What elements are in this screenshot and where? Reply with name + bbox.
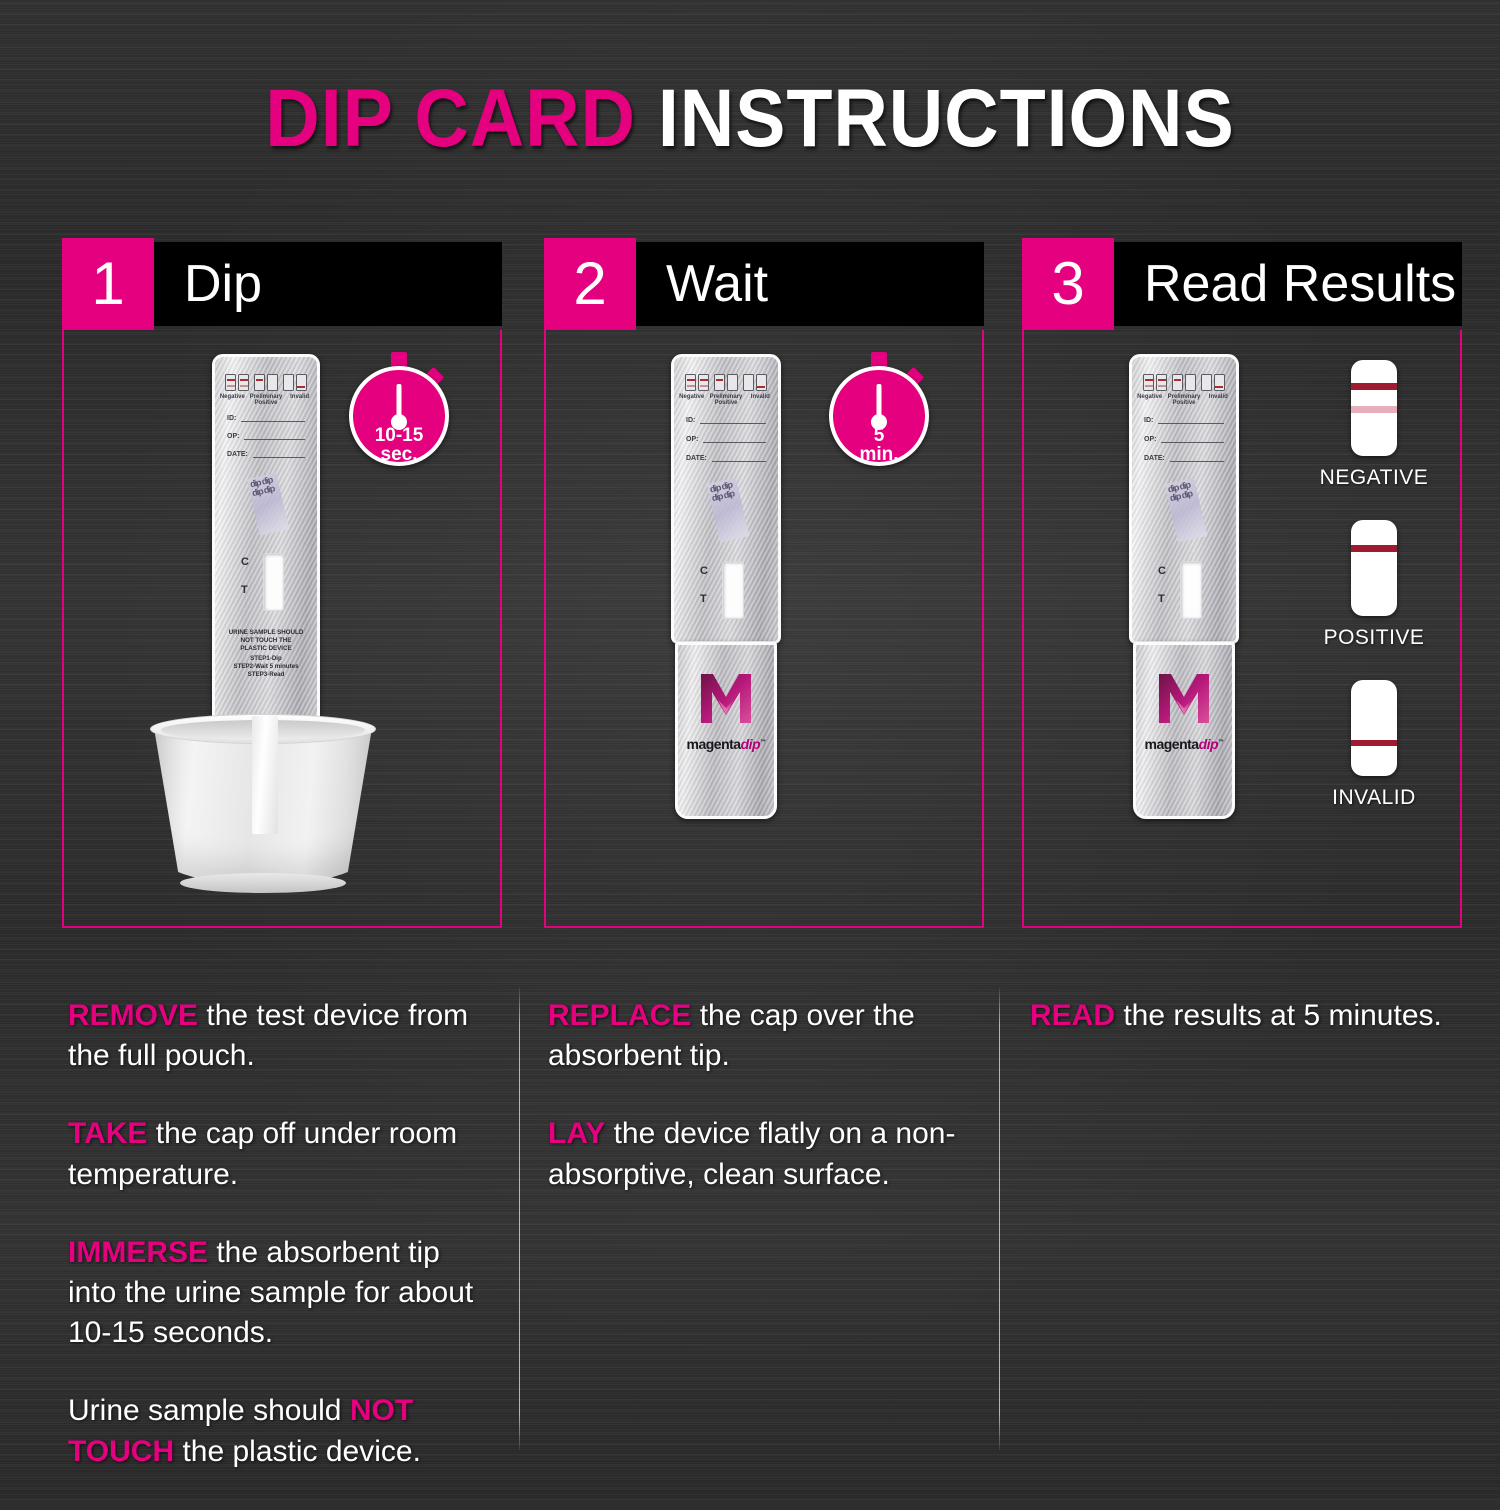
page-title: DIP CARD INSTRUCTIONS (60, 78, 1440, 160)
device-field-op: OP: (1144, 436, 1224, 443)
device-fields: ID: OP: DATE: (674, 417, 778, 462)
device-result-icon-labels: Negative Preliminary Positive Invalid (674, 394, 778, 407)
text-column-divider-1 (519, 988, 520, 1450)
brand-m-icon (1153, 667, 1215, 729)
step-panel-2: 2 Wait (544, 238, 984, 928)
icon-pair-invalid (283, 374, 307, 391)
icon-pair-negative (685, 374, 709, 391)
device-fields: ID: OP: DATE: (215, 415, 317, 458)
icon-label-negative: Negative (1133, 394, 1167, 407)
device-result-icon-labels: Negative Preliminary Positive Invalid (1132, 394, 1236, 407)
stopwatch-duration-step2: 5 min. (833, 426, 925, 465)
device-result-icons (674, 374, 778, 391)
device-result-window (1180, 561, 1202, 619)
step-2-number: 2 (544, 238, 636, 330)
step-1-number: 1 (62, 238, 154, 330)
legend-window-negative (1351, 360, 1397, 456)
instructions-column-2: REPLACE the cap over the absorbent tip. … (548, 996, 960, 1233)
instruction-paragraph: LAY the device flatly on a non-absorptiv… (548, 1114, 960, 1194)
device-hologram: dip dip dip dip (1165, 477, 1208, 542)
device-field-id: ID: (686, 417, 766, 424)
legend-window-invalid (1351, 680, 1397, 776)
band-test-line (1351, 406, 1397, 413)
brand-wordmark: magentadip™ (1136, 736, 1232, 752)
device-field-id: ID: (1144, 417, 1224, 424)
step-2-label: Wait (636, 242, 984, 326)
instruction-paragraph: TAKE the cap off under room temperature. (68, 1114, 480, 1194)
stopwatch-duration-step1: 10-15 sec. (353, 426, 445, 465)
device-result-icons (1132, 374, 1236, 391)
icon-pair-preliminary-positive (254, 374, 278, 391)
step-2-header: 2 Wait (544, 238, 984, 330)
device-cap-lower: magentadip™ (1133, 642, 1235, 819)
test-device-step3: Negative Preliminary Positive Invalid ID… (1129, 354, 1239, 819)
icon-label-preliminary-positive: Preliminary Positive (1167, 394, 1201, 407)
icon-pair-preliminary-positive (1172, 374, 1196, 391)
device-field-op: OP: (686, 436, 766, 443)
device-field-op: OP: (227, 433, 305, 440)
device-field-date: DATE: (227, 451, 305, 458)
brand-logo: magentadip™ (678, 667, 774, 752)
brand-logo: magentadip™ (1136, 667, 1232, 752)
instruction-paragraph: IMMERSE the absorbent tip into the urine… (68, 1233, 480, 1354)
device-ct-marks: C T (700, 566, 708, 605)
device-cap-lower: magentadip™ (675, 642, 777, 819)
device-hologram: dip dip dip dip (247, 472, 289, 535)
band-test-line (1351, 740, 1397, 747)
legend-label-positive: POSITIVE (1294, 626, 1454, 650)
device-body-upper: Negative Preliminary Positive Invalid ID… (1129, 354, 1239, 644)
band-control-line (1351, 545, 1397, 552)
legend-label-negative: NEGATIVE (1294, 466, 1454, 490)
device-result-window (722, 561, 744, 619)
device-warning-note: URINE SAMPLE SHOULD NOT TOUCH THE PLASTI… (215, 629, 317, 679)
icon-pair-preliminary-positive (714, 374, 738, 391)
page-title-accent: DIP CARD (265, 73, 636, 164)
device-ct-marks: C T (1158, 566, 1166, 605)
step-3-body: Negative Preliminary Positive Invalid ID… (1022, 330, 1462, 928)
instruction-paragraph: REMOVE the test device from the full pou… (68, 996, 480, 1076)
device-body-top: Negative Preliminary Positive Invalid ID… (212, 354, 320, 724)
icon-label-invalid: Invalid (743, 394, 777, 407)
brand-wordmark: magentadip™ (678, 736, 774, 752)
stopwatch-face: 10-15 sec. (349, 366, 449, 466)
test-device-step2: Negative Preliminary Positive Invalid ID… (671, 354, 781, 819)
device-result-icon-labels: Negative Preliminary Positive Invalid (215, 394, 317, 407)
instructions-column-1: REMOVE the test device from the full pou… (68, 996, 480, 1510)
icon-label-invalid: Invalid (1201, 394, 1235, 407)
instruction-paragraph: READ the results at 5 minutes. (1030, 996, 1450, 1036)
instruction-paragraph: Urine sample should NOT TOUCH the plasti… (68, 1391, 480, 1471)
icon-label-preliminary-positive: Preliminary Positive (709, 394, 743, 407)
icon-label-negative: Negative (675, 394, 709, 407)
icon-pair-invalid (743, 374, 767, 391)
brand-m-icon (695, 667, 757, 729)
device-field-date: DATE: (1144, 455, 1224, 462)
results-legend: NEGATIVE POSITIVE INVALID (1294, 360, 1454, 800)
step-3-number: 3 (1022, 238, 1114, 330)
absorbent-tip-strip (252, 716, 278, 834)
stopwatch-step1: 10-15 sec. (344, 352, 454, 472)
step-panel-1: 1 Dip (62, 238, 502, 928)
stopwatch-step2: 5 min. (824, 352, 934, 472)
step-1-label: Dip (154, 242, 502, 326)
step-1-body: Negative Preliminary Positive Invalid ID… (62, 330, 502, 928)
icon-pair-invalid (1201, 374, 1225, 391)
device-result-icons (215, 374, 317, 391)
icon-label-preliminary-positive: Preliminary Positive (249, 394, 283, 407)
band-control-line (1351, 383, 1397, 390)
instructions-column-3: READ the results at 5 minutes. (1030, 996, 1450, 1074)
device-field-date: DATE: (686, 455, 766, 462)
page-title-rest: INSTRUCTIONS (658, 73, 1235, 164)
legend-window-positive (1351, 520, 1397, 616)
step-2-body: Negative Preliminary Positive Invalid ID… (544, 330, 984, 928)
text-column-divider-2 (999, 988, 1000, 1450)
instruction-paragraph: REPLACE the cap over the absorbent tip. (548, 996, 960, 1076)
test-device-step1: Negative Preliminary Positive Invalid ID… (212, 354, 320, 724)
icon-pair-negative (225, 374, 249, 391)
legend-label-invalid: INVALID (1294, 786, 1454, 810)
device-body-upper: Negative Preliminary Positive Invalid ID… (671, 354, 781, 644)
icon-label-negative: Negative (216, 394, 250, 407)
stopwatch-face: 5 min. (829, 366, 929, 466)
legend-item-negative: NEGATIVE (1294, 360, 1454, 490)
icon-pair-negative (1143, 374, 1167, 391)
step-1-header: 1 Dip (62, 238, 502, 330)
device-hologram: dip dip dip dip (707, 477, 750, 542)
legend-item-positive: POSITIVE (1294, 520, 1454, 650)
device-ct-marks: C T (241, 557, 249, 596)
device-fields: ID: OP: DATE: (1132, 417, 1236, 462)
step-3-label: Read Results (1114, 242, 1462, 326)
step-3-header: 3 Read Results (1022, 238, 1462, 330)
step-panel-3: 3 Read Results (1022, 238, 1462, 928)
legend-item-invalid: INVALID (1294, 680, 1454, 810)
device-field-id: ID: (227, 415, 305, 422)
icon-label-invalid: Invalid (283, 394, 317, 407)
device-result-window (263, 553, 284, 611)
